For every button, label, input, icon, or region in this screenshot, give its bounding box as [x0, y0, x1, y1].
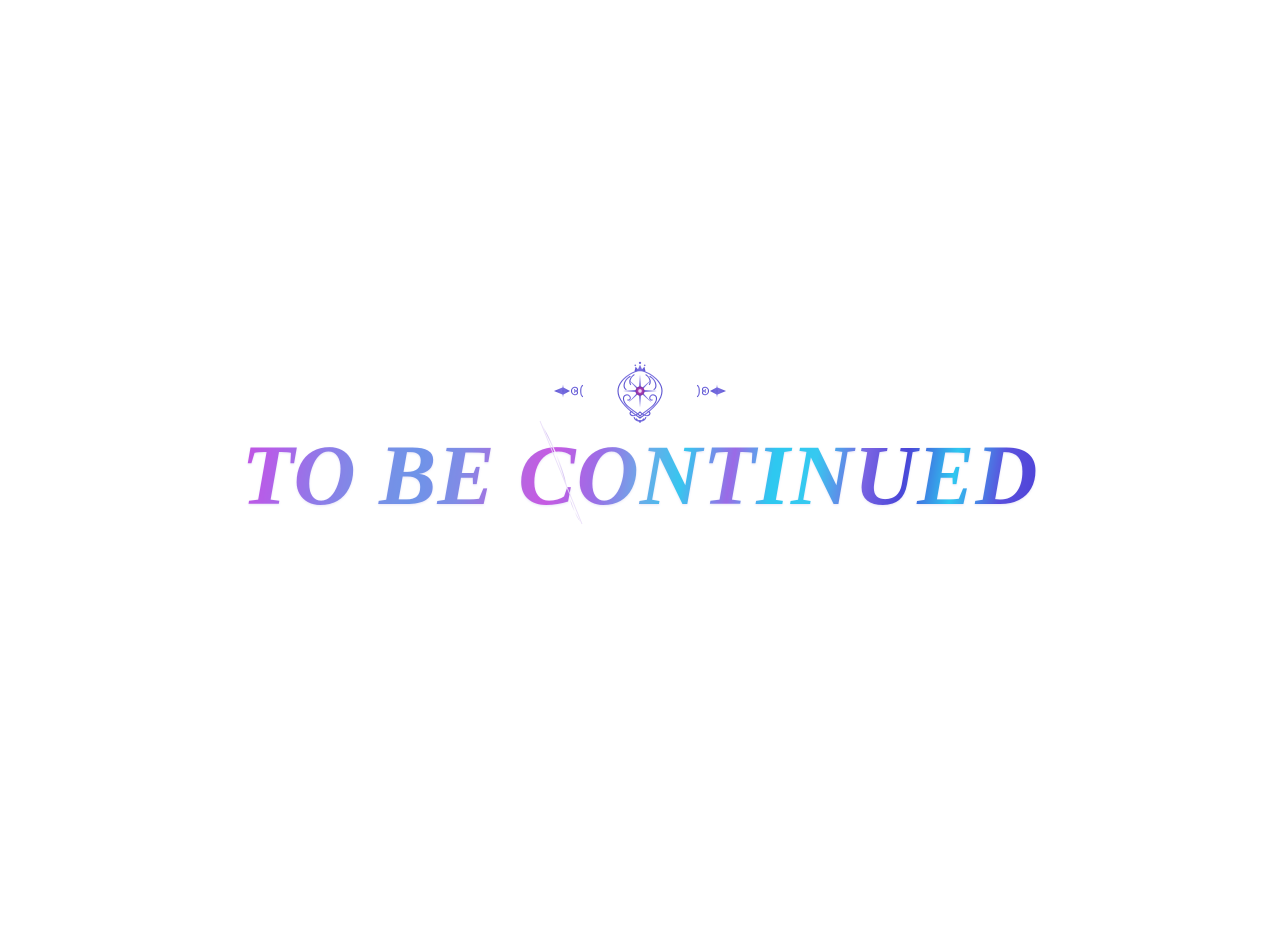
ornament-container	[0, 358, 1280, 424]
title-stack: TO BE CONTINUED	[235, 432, 1044, 520]
filigree-divider-icon	[550, 358, 730, 424]
title-container: TO BE CONTINUED	[0, 432, 1280, 520]
page-title: TO BE CONTINUED	[235, 432, 1044, 520]
to-be-continued-screen: TO BE CONTINUED	[0, 0, 1280, 940]
